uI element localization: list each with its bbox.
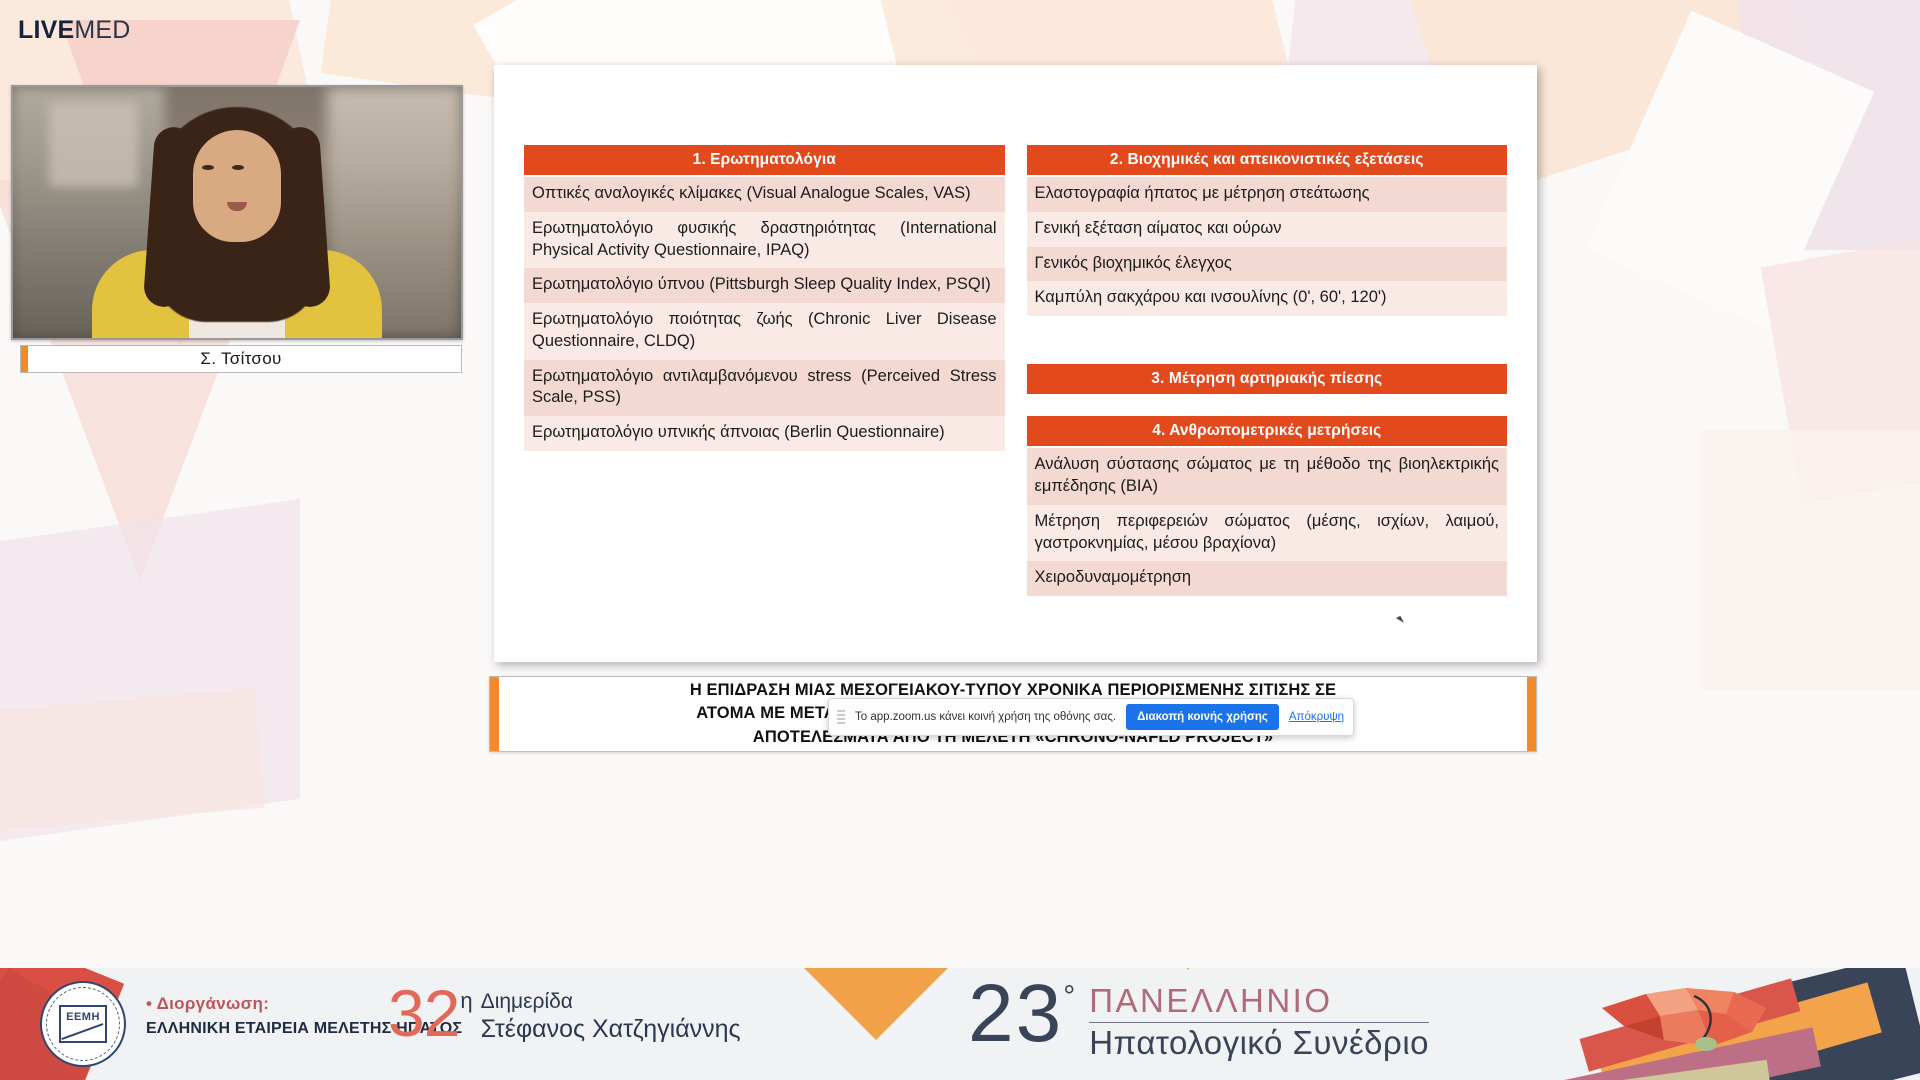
speaker-nameplate: Σ. Τσίτσου xyxy=(20,345,462,373)
conference-footer: ΕΕΜΗ • Διοργάνωση: ΕΛΛΗΝΙΚΗ ΕΤΑΙΡΕΙΑ ΜΕΛ… xyxy=(0,968,1920,1080)
shared-slide[interactable]: 1. Ερωτηματολόγια Οπτικές αναλογικές κλί… xyxy=(494,65,1537,662)
table-row: Ανάλυση σύστασης σώματος με τη μέθοδο τη… xyxy=(1027,448,1508,505)
event-23-line-1: ΠΑΝΕΛΛΗΝΙΟ xyxy=(1089,984,1429,1019)
event-32nd-block: 32 η Διημερίδα Στέφανος Χατζηγιάννης xyxy=(388,982,741,1045)
table-row: Μέτρηση περιφερειών σώματος (μέσης, ισχί… xyxy=(1027,505,1508,562)
section-rows-biochemical-imaging: Ελαστογραφία ήπατος με μέτρηση στεάτωσης… xyxy=(1027,177,1508,316)
slide-column-right: 2. Βιοχημικές και απεικονιστικές εξετάσε… xyxy=(1027,145,1508,662)
speaker-eye-left xyxy=(202,165,214,170)
event-32-ordinal: η xyxy=(460,988,472,1014)
table-row: Ερωτηματολόγιο υπνικής άπνοιας (Berlin Q… xyxy=(524,416,1005,451)
event-32-number: 32 xyxy=(388,982,459,1045)
speaker-name: Σ. Τσίτσου xyxy=(200,349,281,369)
section-rows-anthropometric: Ανάλυση σύστασης σώματος με τη μέθοδο τη… xyxy=(1027,448,1508,596)
drag-handle-icon[interactable] xyxy=(837,710,845,724)
livemed-logo: LIVEMED xyxy=(18,16,131,45)
speaker-eye-right xyxy=(232,165,244,170)
event-23-text: ΠΑΝΕΛΛΗΝΙΟ Ηπατολογικό Συνέδριο xyxy=(1089,984,1429,1061)
event-32-line-1: Διημερίδα xyxy=(481,990,741,1014)
table-row: Ερωτηματολόγιο φυσικής δραστηριότητας (I… xyxy=(524,212,1005,269)
video-window-highlight xyxy=(49,102,139,187)
spacer xyxy=(1027,394,1508,416)
footer-decor-orange-triangle xyxy=(758,968,994,1040)
speaker-video-tile[interactable] xyxy=(11,85,463,340)
stop-sharing-button[interactable]: Διακοπή κοινής χρήσης xyxy=(1126,704,1279,730)
event-23-line-2: Ηπατολογικό Συνέδριο xyxy=(1089,1025,1429,1061)
event-23-ordinal: ° xyxy=(1063,980,1075,1014)
table-row: Γενικός βιοχημικός έλεγχος xyxy=(1027,247,1508,282)
table-row: Οπτικές αναλογικές κλίμακες (Visual Anal… xyxy=(524,177,1005,212)
table-row: Ελαστογραφία ήπατος με μέτρηση στεάτωσης xyxy=(1027,177,1508,212)
event-32-line-2: Στέφανος Χατζηγιάννης xyxy=(481,1014,741,1044)
section-header-blood-pressure: 3. Μέτρηση αρτηριακής πίεσης xyxy=(1027,364,1508,394)
event-23-divider xyxy=(1089,1022,1429,1023)
section-header-biochemical-imaging: 2. Βιοχημικές και απεικονιστικές εξετάσε… xyxy=(1027,145,1508,175)
spacer xyxy=(1027,316,1508,364)
logo-light-part: MED xyxy=(74,16,130,44)
table-row: Χειροδυναμομέτρηση xyxy=(1027,561,1508,596)
section-rows-questionnaires: Οπτικές αναλογικές κλίμακες (Visual Anal… xyxy=(524,177,1005,451)
table-row: Καμπύλη σακχάρου και ινσουλίνης (0', 60'… xyxy=(1027,281,1508,316)
speaker-face xyxy=(193,130,281,242)
event-23rd-block: 23 ° ΠΑΝΕΛΛΗΝΙΟ Ηπατολογικό Συνέδριο xyxy=(968,974,1429,1061)
screen-share-notification[interactable]: Το app.zoom.us κάνει κοινή χρήση της οθό… xyxy=(828,698,1354,736)
eemh-society-logo: ΕΕΜΗ xyxy=(40,981,126,1067)
table-row: Γενική εξέταση αίματος και ούρων xyxy=(1027,212,1508,247)
event-23-number: 23 xyxy=(968,974,1063,1054)
society-acronym: ΕΕΜΗ xyxy=(66,1011,100,1023)
liver-organ-icon xyxy=(1594,974,1824,1066)
section-header-anthropometric: 4. Ανθρωπομετρικές μετρήσεις xyxy=(1027,416,1508,446)
section-header-questionnaires: 1. Ερωτηματολόγια xyxy=(524,145,1005,175)
logo-bold-part: LIVE xyxy=(18,16,74,44)
slide-content: 1. Ερωτηματολόγια Οπτικές αναλογικές κλί… xyxy=(494,65,1537,662)
logo-mark: ΕΕΜΗ xyxy=(59,1005,107,1043)
decor-shape-soft-right xyxy=(1700,430,1920,690)
event-32-text: Διημερίδα Στέφανος Χατζηγιάννης xyxy=(481,990,741,1044)
liver-illustration xyxy=(1580,968,1920,1080)
decor-shape-pink-bottom-left xyxy=(0,688,265,832)
screen-root: LIVEMED Σ. Τσίτσου 1. Ερωτηματολόγια Οπτ… xyxy=(0,0,1920,1080)
footer-decor-orange-triangle-2 xyxy=(1150,968,1226,970)
table-row: Ερωτηματολόγιο αντιλαμβανόμενου stress (… xyxy=(524,360,1005,417)
hide-notification-link[interactable]: Απόκρυψη xyxy=(1289,711,1344,723)
slide-column-left: 1. Ερωτηματολόγια Οπτικές αναλογικές κλί… xyxy=(524,145,1005,662)
table-row: Ερωτηματολόγιο ποιότητας ζωής (Chronic L… xyxy=(524,303,1005,360)
table-row: Ερωτηματολόγιο ύπνου (Pittsburgh Sleep Q… xyxy=(524,268,1005,303)
share-status-text: Το app.zoom.us κάνει κοινή χρήση της οθό… xyxy=(855,711,1116,723)
